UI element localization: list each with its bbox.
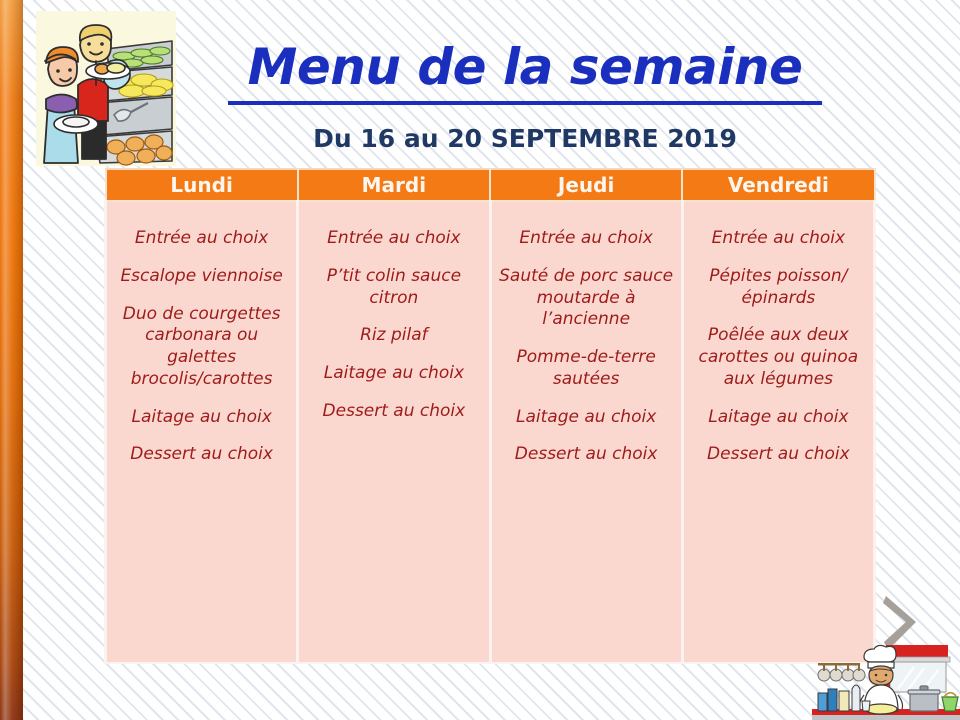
chef-cooking-illustration bbox=[812, 645, 960, 720]
chevron-right-icon bbox=[882, 594, 922, 652]
menu-item: Pépites poisson/épinards bbox=[690, 266, 867, 310]
left-accent-bar bbox=[0, 0, 23, 720]
menu-item: Laitage au choix bbox=[690, 407, 867, 429]
menu-cell-jeudi: Entrée au choix Sauté de porc sauce mout… bbox=[490, 201, 682, 663]
menu-item: Poêlée aux deux carottes ou quinoa aux l… bbox=[690, 325, 867, 390]
menu-item: Entrée au choix bbox=[113, 228, 290, 250]
page-title: Menu de la semaine bbox=[215, 38, 835, 96]
menu-item: Entrée au choix bbox=[305, 228, 482, 250]
title-underline bbox=[228, 101, 822, 105]
canteen-serving-illustration bbox=[36, 11, 176, 166]
table-header-row: Lundi Mardi Jeudi Vendredi bbox=[106, 169, 875, 201]
menu-item: Dessert au choix bbox=[690, 444, 867, 466]
slide-canvas: Menu de la semaine Du 16 au 20 SEPTEMBRE… bbox=[0, 0, 960, 720]
menu-item: Dessert au choix bbox=[305, 401, 482, 423]
menu-item: Entrée au choix bbox=[498, 228, 675, 250]
menu-cell-vendredi: Entrée au choix Pépites poisson/épinards… bbox=[682, 201, 874, 663]
menu-item: P’tit colin sauce citron bbox=[305, 266, 482, 310]
menu-item: Sauté de porc sauce moutarde à l’ancienn… bbox=[498, 266, 675, 331]
menu-cell-mardi: Entrée au choix P’tit colin sauce citron… bbox=[298, 201, 490, 663]
column-header-lundi: Lundi bbox=[106, 169, 298, 201]
table-row: Entrée au choix Escalope viennoise Duo d… bbox=[106, 201, 875, 663]
weekly-menu-table: Lundi Mardi Jeudi Vendredi Entrée au cho… bbox=[104, 168, 876, 664]
menu-item: Duo de courgettes carbonara ou galettes … bbox=[113, 304, 290, 391]
menu-item: Escalope viennoise bbox=[113, 266, 290, 288]
menu-cell-lundi: Entrée au choix Escalope viennoise Duo d… bbox=[106, 201, 298, 663]
menu-item: Dessert au choix bbox=[498, 444, 675, 466]
menu-item: Laitage au choix bbox=[113, 407, 290, 429]
column-header-vendredi: Vendredi bbox=[682, 169, 874, 201]
column-header-jeudi: Jeudi bbox=[490, 169, 682, 201]
menu-item: Entrée au choix bbox=[690, 228, 867, 250]
menu-item: Pomme-de-terre sautées bbox=[498, 347, 675, 391]
column-header-mardi: Mardi bbox=[298, 169, 490, 201]
menu-item: Riz pilaf bbox=[305, 325, 482, 347]
menu-item: Dessert au choix bbox=[113, 444, 290, 466]
menu-item: Laitage au choix bbox=[498, 407, 675, 429]
page-subtitle: Du 16 au 20 SEPTEMBRE 2019 bbox=[215, 124, 835, 153]
menu-item: Laitage au choix bbox=[305, 363, 482, 385]
